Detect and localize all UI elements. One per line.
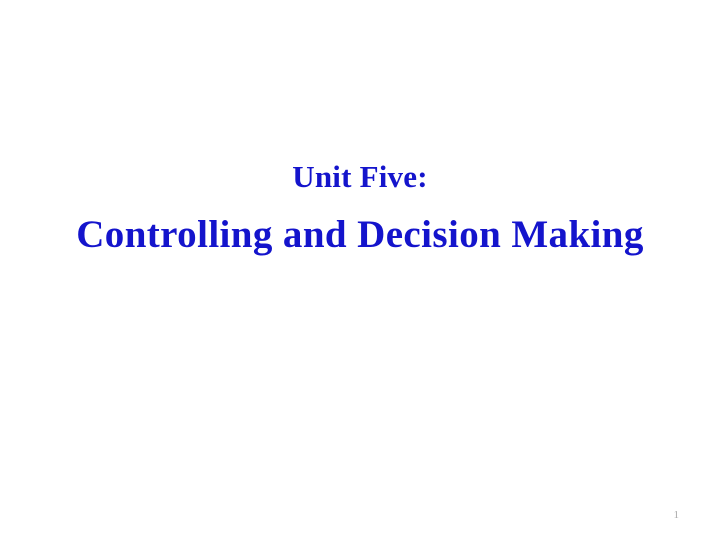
slide-canvas: Unit Five: Controlling and Decision Maki… <box>0 0 720 540</box>
slide-number: 1 <box>674 509 680 522</box>
slide-title-line-2: Controlling and Decision Making <box>28 204 692 266</box>
slide-title-block: Unit Five: Controlling and Decision Maki… <box>0 150 720 266</box>
slide-title-line-1: Unit Five: <box>28 150 692 204</box>
